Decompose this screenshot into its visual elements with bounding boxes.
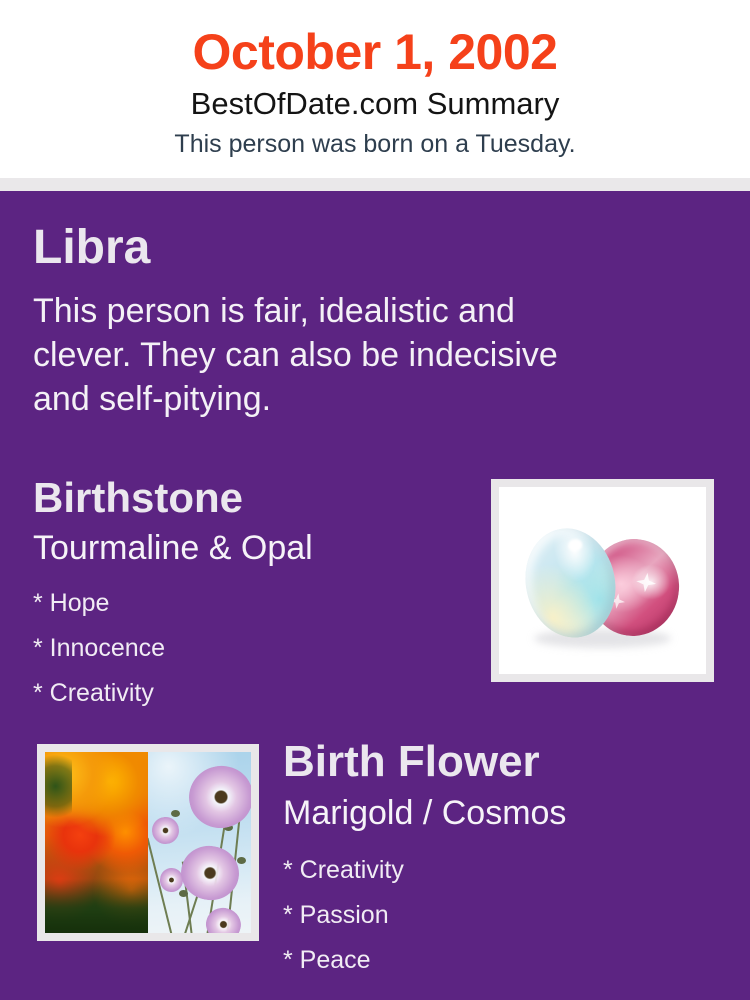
cosmos-bloom [183, 760, 251, 835]
marigold-photo-half [45, 752, 148, 933]
flower-bud [179, 890, 188, 897]
zodiac-description: This person is fair, idealistic and clev… [33, 289, 613, 421]
summary-card: October 1, 2002 BestOfDate.com Summary T… [0, 0, 750, 1000]
birth-flower-name: Marigold / Cosmos [283, 792, 566, 834]
header: October 1, 2002 BestOfDate.com Summary T… [0, 0, 750, 178]
header-divider [0, 178, 750, 191]
birth-flower-photo [37, 744, 259, 941]
list-item: * Creativity [283, 848, 703, 893]
list-item: * Innocence [33, 626, 453, 671]
list-item: * Hope [33, 581, 453, 626]
list-item: * Passion [283, 893, 703, 938]
details-panel: Libra This person is fair, idealistic an… [0, 191, 750, 1000]
gem-stage [499, 487, 706, 674]
site-summary-label: BestOfDate.com Summary [0, 85, 750, 123]
birthstone-name: Tourmaline & Opal [33, 527, 313, 569]
cosmos-bloom [151, 816, 180, 846]
flower-bud [171, 810, 180, 817]
birthstone-photo [491, 479, 714, 682]
list-item: * Creativity [33, 671, 453, 716]
page-title: October 1, 2002 [0, 22, 750, 82]
birthstone-trait-list: * Hope * Innocence * Creativity [33, 581, 453, 716]
birth-flower-photo-inner [45, 752, 251, 933]
flower-bud [237, 857, 246, 864]
cosmos-photo-half [148, 752, 251, 933]
born-weekday-text: This person was born on a Tuesday. [0, 128, 750, 160]
zodiac-sign-title: Libra [33, 220, 150, 276]
flower-split-composite [45, 752, 251, 933]
birthstone-heading: Birthstone [33, 473, 243, 523]
birthstone-photo-inner [499, 487, 706, 674]
cosmos-bloom [202, 903, 245, 933]
birth-flower-heading: Birth Flower [283, 736, 540, 788]
list-item: * Peace [283, 938, 703, 983]
birth-flower-trait-list: * Creativity * Passion * Peace [283, 848, 703, 983]
